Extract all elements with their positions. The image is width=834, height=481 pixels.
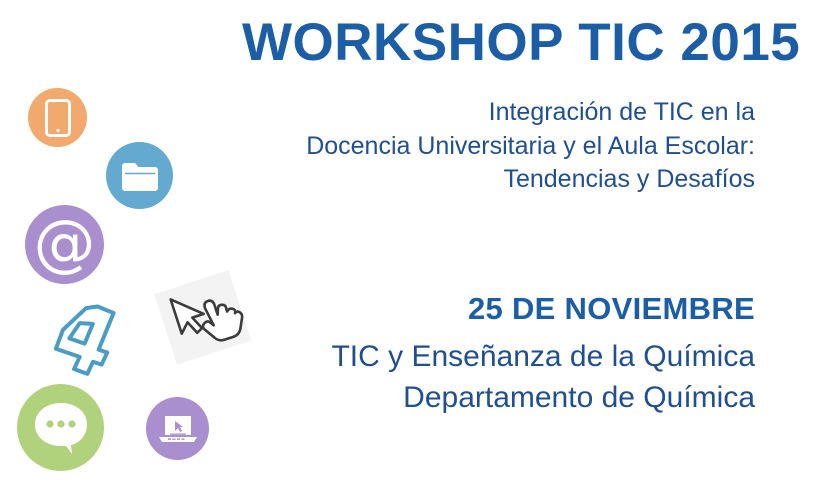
session-block: TIC y Enseñanza de la Química Departamen…	[247, 336, 755, 418]
text-column: WORKSHOP TIC 2015 Integración de TIC en …	[250, 0, 758, 481]
event-date: 25 DE NOVIEMBRE	[247, 291, 755, 327]
cursor-arrow-hand-icon	[148, 262, 260, 374]
at-sign-icon: @	[25, 205, 104, 284]
session-department: Departamento de Química	[247, 377, 755, 418]
at-sign-glyph: @	[34, 212, 96, 274]
subtitle-line-1: Integración de TIC en la	[247, 96, 755, 130]
subtitle-line-2: Docencia Universitaria y el Aula Escolar…	[247, 130, 755, 164]
session-title: TIC y Enseñanza de la Química	[247, 336, 755, 377]
laptop-icon	[146, 397, 209, 460]
folder-icon	[106, 142, 173, 209]
page-title: WORKSHOP TIC 2015	[242, 14, 750, 72]
chat-bubble-icon	[17, 384, 104, 471]
subtitle-line-3: Tendencias y Desafíos	[247, 163, 755, 197]
subtitle-block: Integración de TIC en la Docencia Univer…	[247, 96, 755, 197]
smartphone-icon	[28, 88, 87, 147]
number-four-icon	[46, 297, 128, 377]
poster-canvas: @	[0, 0, 834, 481]
